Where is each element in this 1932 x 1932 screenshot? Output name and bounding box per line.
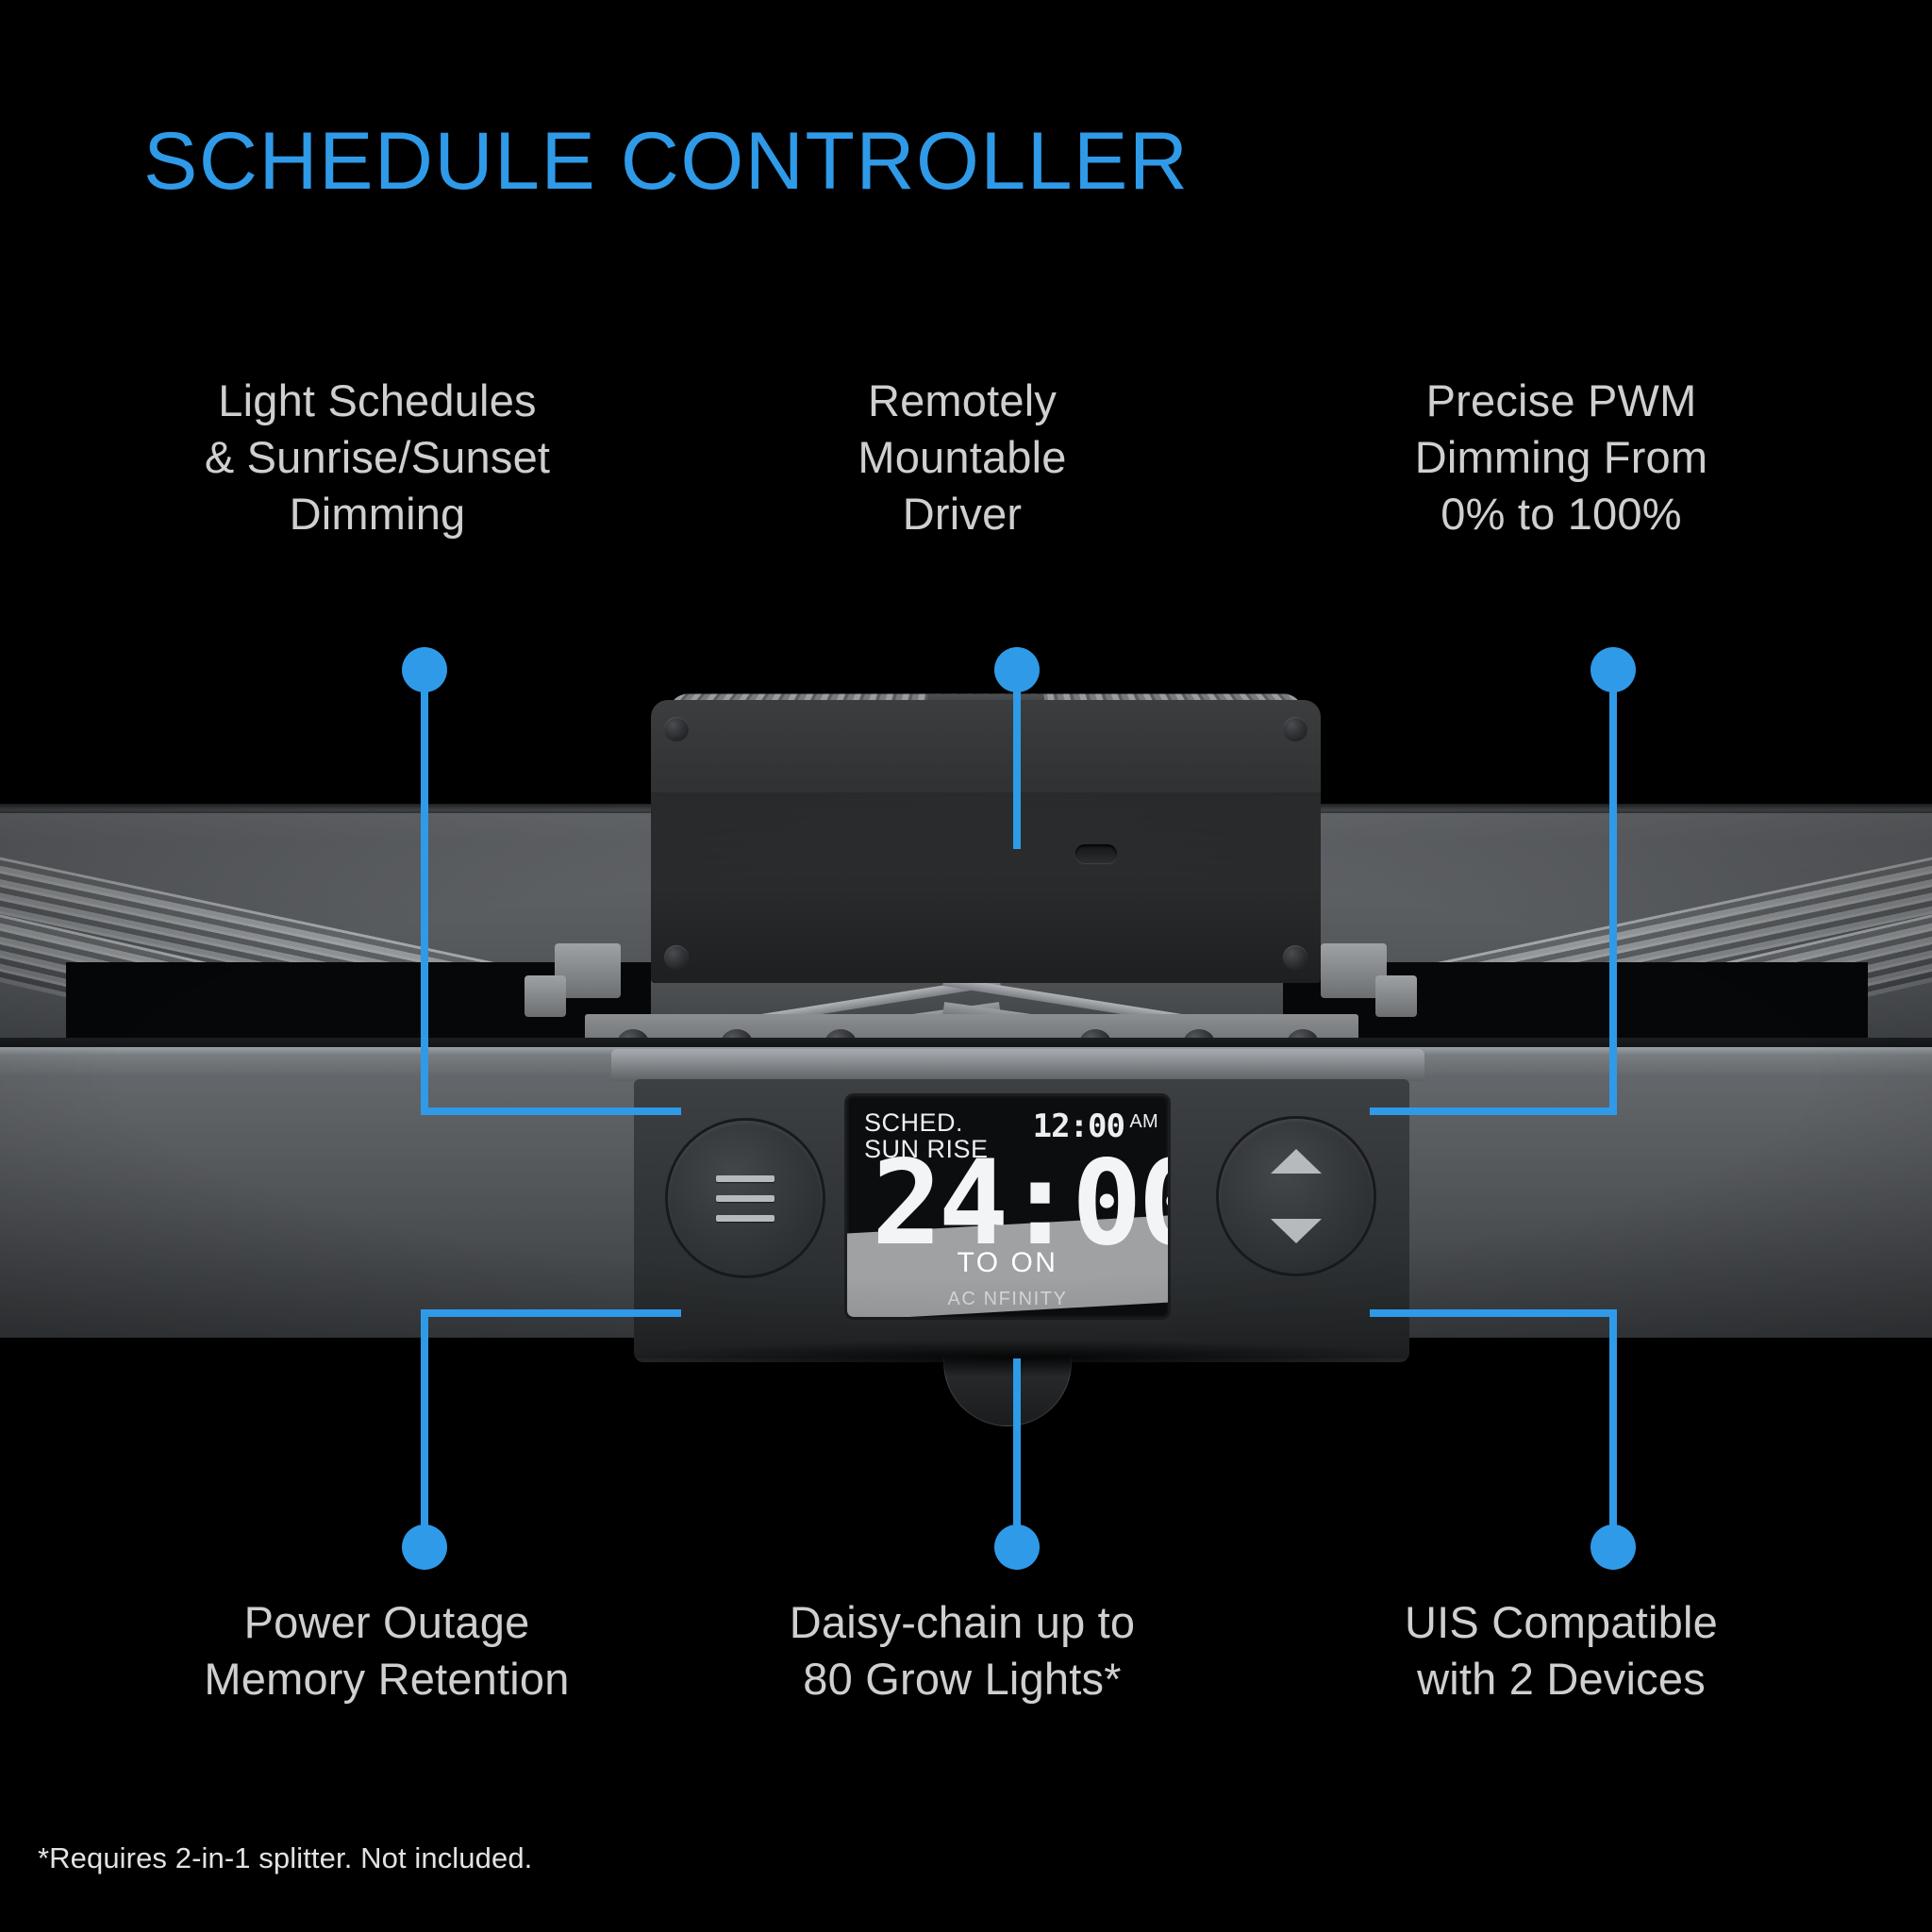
lcd-meridiem: AM <box>1129 1111 1158 1133</box>
mount-clip-right <box>1375 975 1417 1017</box>
page-title: SCHEDULE CONTROLLER <box>143 121 1190 202</box>
feature-label-top-left: Light Schedules & Sunrise/Sunset Dimming <box>85 373 670 542</box>
feature-label-bottom-left: Power Outage Memory Retention <box>94 1594 679 1707</box>
hamburger-icon-bar-1 <box>716 1175 774 1182</box>
down-arrow-icon[interactable] <box>1271 1219 1322 1243</box>
feature-tc-line3: Driver <box>717 486 1207 542</box>
driver-housing <box>651 700 1321 983</box>
driver-screw-bottom-right <box>1283 945 1307 970</box>
feature-bc-line1: Daisy-chain up to <box>717 1594 1207 1651</box>
hamburger-icon-bar-3 <box>716 1215 774 1222</box>
up-down-rocker-button[interactable] <box>1219 1119 1374 1274</box>
controller-top-cap <box>611 1049 1424 1081</box>
hamburger-icon-bar-2 <box>716 1195 774 1202</box>
lcd-mode-line1: SCHED. <box>864 1109 989 1136</box>
feature-bc-line2: 80 Grow Lights* <box>717 1651 1207 1707</box>
feature-label-top-center: Remotely Mountable Driver <box>717 373 1207 542</box>
feature-label-top-right: Precise PWM Dimming From 0% to 100% <box>1269 373 1854 542</box>
lcd-status: TO ON <box>847 1247 1168 1279</box>
feature-label-bottom-right: UIS Compatible with 2 Devices <box>1269 1594 1854 1707</box>
driver-screw-top-right <box>1283 717 1307 741</box>
feature-tr-line2: Dimming From <box>1269 429 1854 486</box>
feature-tr-line1: Precise PWM <box>1269 373 1854 429</box>
controller-shadow <box>604 1340 1434 1377</box>
feature-label-bottom-center: Daisy-chain up to 80 Grow Lights* <box>717 1594 1207 1707</box>
lcd-countdown: 24:00 <box>872 1145 1143 1262</box>
footnote: *Requires 2-in-1 splitter. Not included. <box>38 1841 532 1875</box>
driver-vent-slot <box>1075 844 1117 863</box>
mount-clip-left <box>525 975 566 1017</box>
driver-screw-top-left <box>664 717 689 741</box>
lcd-display: SCHED. SUN RISE 12:00 AM 24:00 TO ON AC … <box>847 1096 1168 1317</box>
feature-bl-line2: Memory Retention <box>94 1651 679 1707</box>
menu-button[interactable] <box>668 1121 823 1275</box>
feature-tr-line3: 0% to 100% <box>1269 486 1854 542</box>
lcd-brand-logo: AC NFINITY <box>847 1289 1168 1310</box>
feature-br-line1: UIS Compatible <box>1269 1594 1854 1651</box>
feature-br-line2: with 2 Devices <box>1269 1651 1854 1707</box>
up-arrow-icon[interactable] <box>1271 1149 1322 1174</box>
feature-tc-line2: Mountable <box>717 429 1207 486</box>
feature-tl-line3: Dimming <box>85 486 670 542</box>
feature-tl-line1: Light Schedules <box>85 373 670 429</box>
driver-screw-bottom-left <box>664 945 689 970</box>
feature-bl-line1: Power Outage <box>94 1594 679 1651</box>
feature-tc-line1: Remotely <box>717 373 1207 429</box>
feature-tl-line2: & Sunrise/Sunset <box>85 429 670 486</box>
